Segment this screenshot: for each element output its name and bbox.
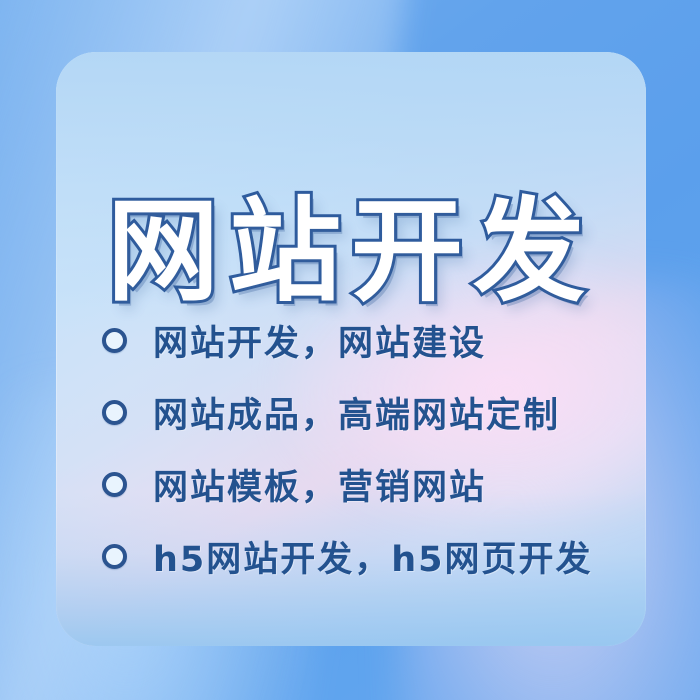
ring-bullet-icon: [102, 544, 127, 569]
card-content: 网站开发 网站开发，网站建设 网站成品，高端网站定制 网站模板，营销网站: [56, 52, 646, 646]
list-item: 网站成品，高端网站定制: [102, 376, 620, 448]
ring-bullet-icon: [102, 328, 127, 353]
feature-list: 网站开发，网站建设 网站成品，高端网站定制 网站模板，营销网站 h5网站开发，h…: [102, 304, 620, 592]
feature-text: 网站开发，网站建设: [153, 315, 486, 366]
ring-bullet-icon: [102, 400, 127, 425]
page-title: 网站开发: [107, 193, 595, 312]
frosted-card-panel: 网站开发 网站开发，网站建设 网站成品，高端网站定制 网站模板，营销网站: [56, 52, 646, 646]
feature-text: h5网站开发，h5网页开发: [153, 531, 593, 582]
feature-text: 网站模板，营销网站: [153, 459, 486, 510]
list-item: 网站开发，网站建设: [102, 304, 620, 376]
ring-bullet-icon: [102, 472, 127, 497]
list-item: 网站模板，营销网站: [102, 448, 620, 520]
poster-canvas: 网站开发 网站开发，网站建设 网站成品，高端网站定制 网站模板，营销网站: [0, 0, 700, 700]
feature-text: 网站成品，高端网站定制: [153, 387, 560, 438]
list-item: h5网站开发，h5网页开发: [102, 520, 620, 592]
